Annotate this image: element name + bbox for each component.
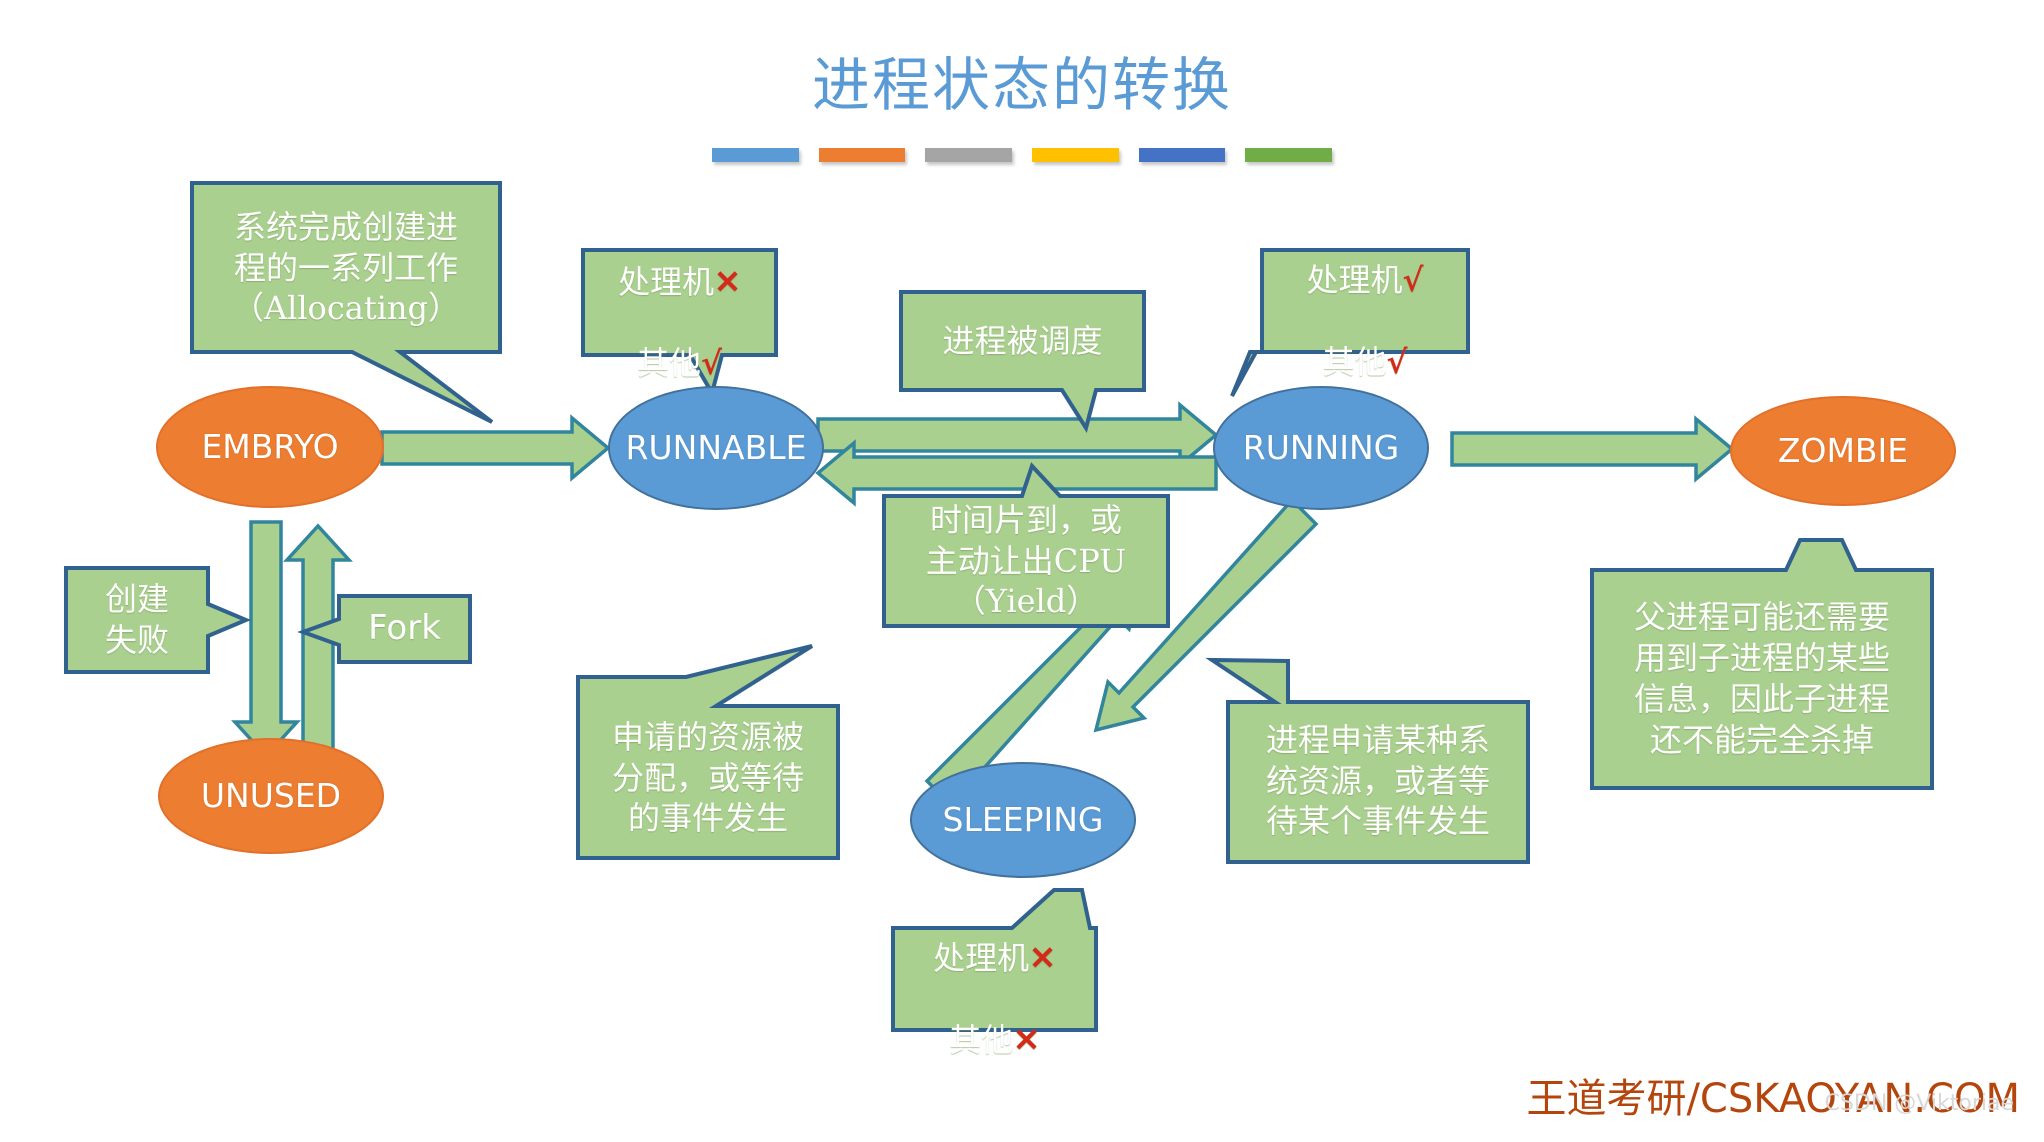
arrow-embryo-to-runnable — [382, 418, 608, 478]
node-unused[interactable]: UNUSED — [158, 738, 384, 854]
callout-zombie-note-shape — [1592, 540, 1932, 788]
csdn-watermark: CSDN @Viktoriae — [1825, 1091, 2014, 1116]
callout-resource-alloc-shape — [578, 646, 838, 858]
node-runnable-label: RUNNABLE — [614, 424, 819, 472]
arrow-running-to-zombie — [1452, 419, 1732, 479]
node-zombie-label: ZOMBIE — [1766, 427, 1920, 475]
node-embryo-label: EMBRYO — [189, 423, 350, 471]
callout-request-res-shape — [1212, 660, 1528, 862]
slide-canvas: 进程状态的转换 — [0, 0, 2044, 1142]
callout-runnable-res-shape — [583, 250, 776, 393]
node-embryo[interactable]: EMBRYO — [156, 386, 384, 508]
node-running[interactable]: RUNNING — [1213, 386, 1429, 510]
node-sleeping[interactable]: SLEEPING — [910, 762, 1136, 878]
callout-scheduled-shape — [901, 292, 1144, 428]
node-runnable[interactable]: RUNNABLE — [608, 386, 824, 510]
callout-sleeping-res-shape — [893, 890, 1096, 1030]
callout-allocating-shape — [192, 183, 500, 422]
node-running-label: RUNNING — [1231, 424, 1411, 472]
node-unused-label: UNUSED — [189, 772, 353, 820]
diagram-vector-layer — [0, 0, 2044, 1142]
node-sleeping-label: SLEEPING — [931, 796, 1116, 844]
node-zombie[interactable]: ZOMBIE — [1730, 396, 1956, 506]
callout-create-fail-shape — [66, 568, 246, 672]
callout-running-res-shape — [1232, 250, 1468, 396]
